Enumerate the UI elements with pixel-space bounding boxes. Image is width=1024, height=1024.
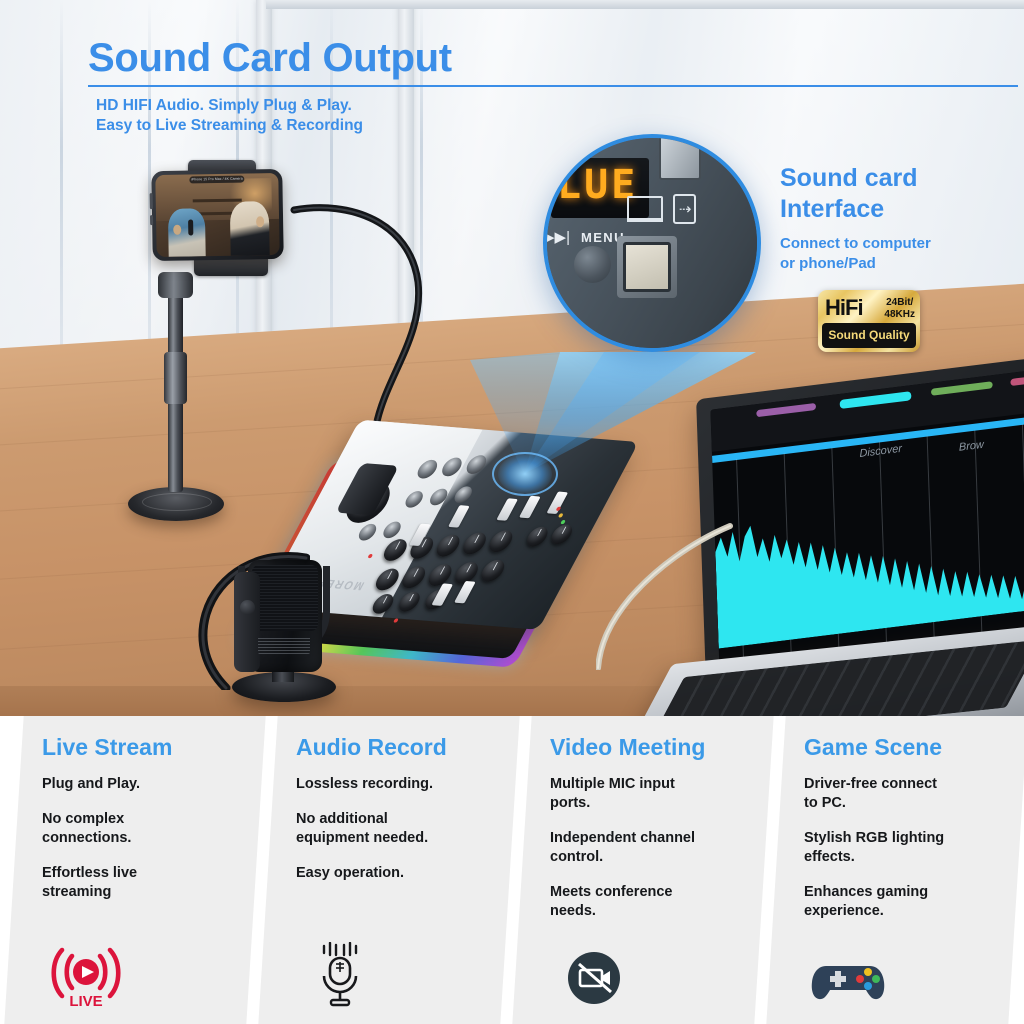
callout-title-line-1: Sound card (780, 163, 918, 194)
label-browse: Brow (959, 439, 984, 454)
window-crossbar (266, 0, 1024, 9)
phone-screen: iPhone 15 Pro Max / 4K Camera (155, 173, 279, 257)
menu-button[interactable] (574, 246, 611, 283)
usb-b-port (617, 236, 677, 298)
bluetooth-icon: ⇢ (673, 194, 696, 224)
hifi-badge: HiFi 24Bit/ 48KHz Sound Quality (818, 290, 920, 352)
feature-line: No complex connections. (42, 810, 236, 848)
skip-icon: ▶▶| (543, 228, 570, 246)
microphone-grill (252, 565, 318, 631)
feature-title: Audio Record (296, 734, 490, 761)
feature-line: Meets conference needs. (550, 883, 744, 921)
feature-line: Multiple MIC input ports. (550, 775, 744, 813)
microphone-gain-knob[interactable] (240, 600, 255, 615)
feature-title: Live Stream (42, 734, 236, 761)
gamepad-icon (806, 942, 890, 1008)
live-broadcast-icon: LIVE (44, 942, 128, 1008)
feature-line: Independent channel control. (550, 829, 744, 867)
hifi-quality-bar: Sound Quality (822, 323, 916, 348)
laptop-usb-cable (596, 520, 736, 670)
live-icon-label: LIVE (69, 993, 102, 1008)
feature-column-live-stream: Live Stream Plug and Play. No complex co… (4, 716, 265, 1024)
feature-line: Effortless live streaming (42, 864, 236, 902)
hifi-quality-text: Sound Quality (822, 323, 916, 348)
label-discover: Discover (859, 443, 902, 460)
hifi-spec-line-2: 48KHz (884, 309, 915, 321)
page-subtitle: HD HIFI Audio. Simply Plug & Play. Easy … (96, 96, 363, 136)
phone-status-text: iPhone 15 Pro Max / 4K Camera (190, 176, 244, 184)
feature-line: Easy operation. (296, 864, 490, 883)
phone-stand-joint (164, 352, 187, 404)
feature-column-game-scene: Game Scene Driver-free connect to PC. St… (766, 716, 1024, 1024)
feature-column-audio-record: Audio Record Lossless recording. No addi… (258, 716, 519, 1024)
phone-stand-head (158, 272, 193, 298)
microphone-icon (298, 942, 382, 1008)
phone-stand-base (128, 487, 224, 521)
feature-line: Plug and Play. (42, 775, 236, 794)
card-slot (659, 134, 701, 180)
phone-status-bar: iPhone 15 Pro Max / 4K Camera (190, 176, 244, 184)
feature-line: Lossless recording. (296, 775, 490, 794)
microphone-side-panel (234, 572, 260, 672)
hifi-spec-line-1: 24Bit/ (884, 297, 915, 309)
smartphone: iPhone 15 Pro Max / 4K Camera (151, 169, 284, 261)
hero-photo-scene: iPhone 15 Pro Max / 4K Camera MOREPAND (0, 0, 1024, 716)
title-underline (88, 85, 1018, 87)
feature-column-video-meeting: Video Meeting Multiple MIC input ports. … (512, 716, 773, 1024)
feature-line: Driver-free connect to PC. (804, 775, 998, 813)
subtitle-line-2: Easy to Live Streaming & Recording (96, 116, 363, 136)
usb-laptop-icon (627, 196, 663, 222)
audio-waveform (714, 477, 1024, 649)
callout-desc-line-1: Connect to computer (780, 234, 931, 254)
callout-title-line-2: Interface (780, 194, 918, 225)
feature-title: Video Meeting (550, 734, 744, 761)
feature-line: Enhances gaming experience. (804, 883, 998, 921)
microphone-label (258, 636, 310, 654)
product-infographic: iPhone 15 Pro Max / 4K Camera MOREPAND (0, 0, 1024, 1024)
page-title: Sound Card Output (88, 36, 452, 81)
callout-desc-line-2: or phone/Pad (780, 254, 931, 274)
callout-description: Connect to computer or phone/Pad (780, 234, 931, 274)
usb-port-glow-ring (492, 452, 558, 496)
feature-line: No additional equipment needed. (296, 810, 490, 848)
feature-columns: Live Stream Plug and Play. No complex co… (0, 716, 1024, 1024)
magnifier-callout: LUE ▶▶| MENU ⇢ USB (543, 134, 761, 352)
hifi-brand: HiFi (825, 295, 863, 321)
video-camera-off-icon (552, 942, 636, 1008)
feature-title: Game Scene (804, 734, 998, 761)
hifi-spec: 24Bit/ 48KHz (884, 297, 915, 321)
feature-line: Stylish RGB lighting effects. (804, 829, 998, 867)
subtitle-line-1: HD HIFI Audio. Simply Plug & Play. (96, 96, 363, 116)
callout-title: Sound card Interface (780, 163, 918, 225)
